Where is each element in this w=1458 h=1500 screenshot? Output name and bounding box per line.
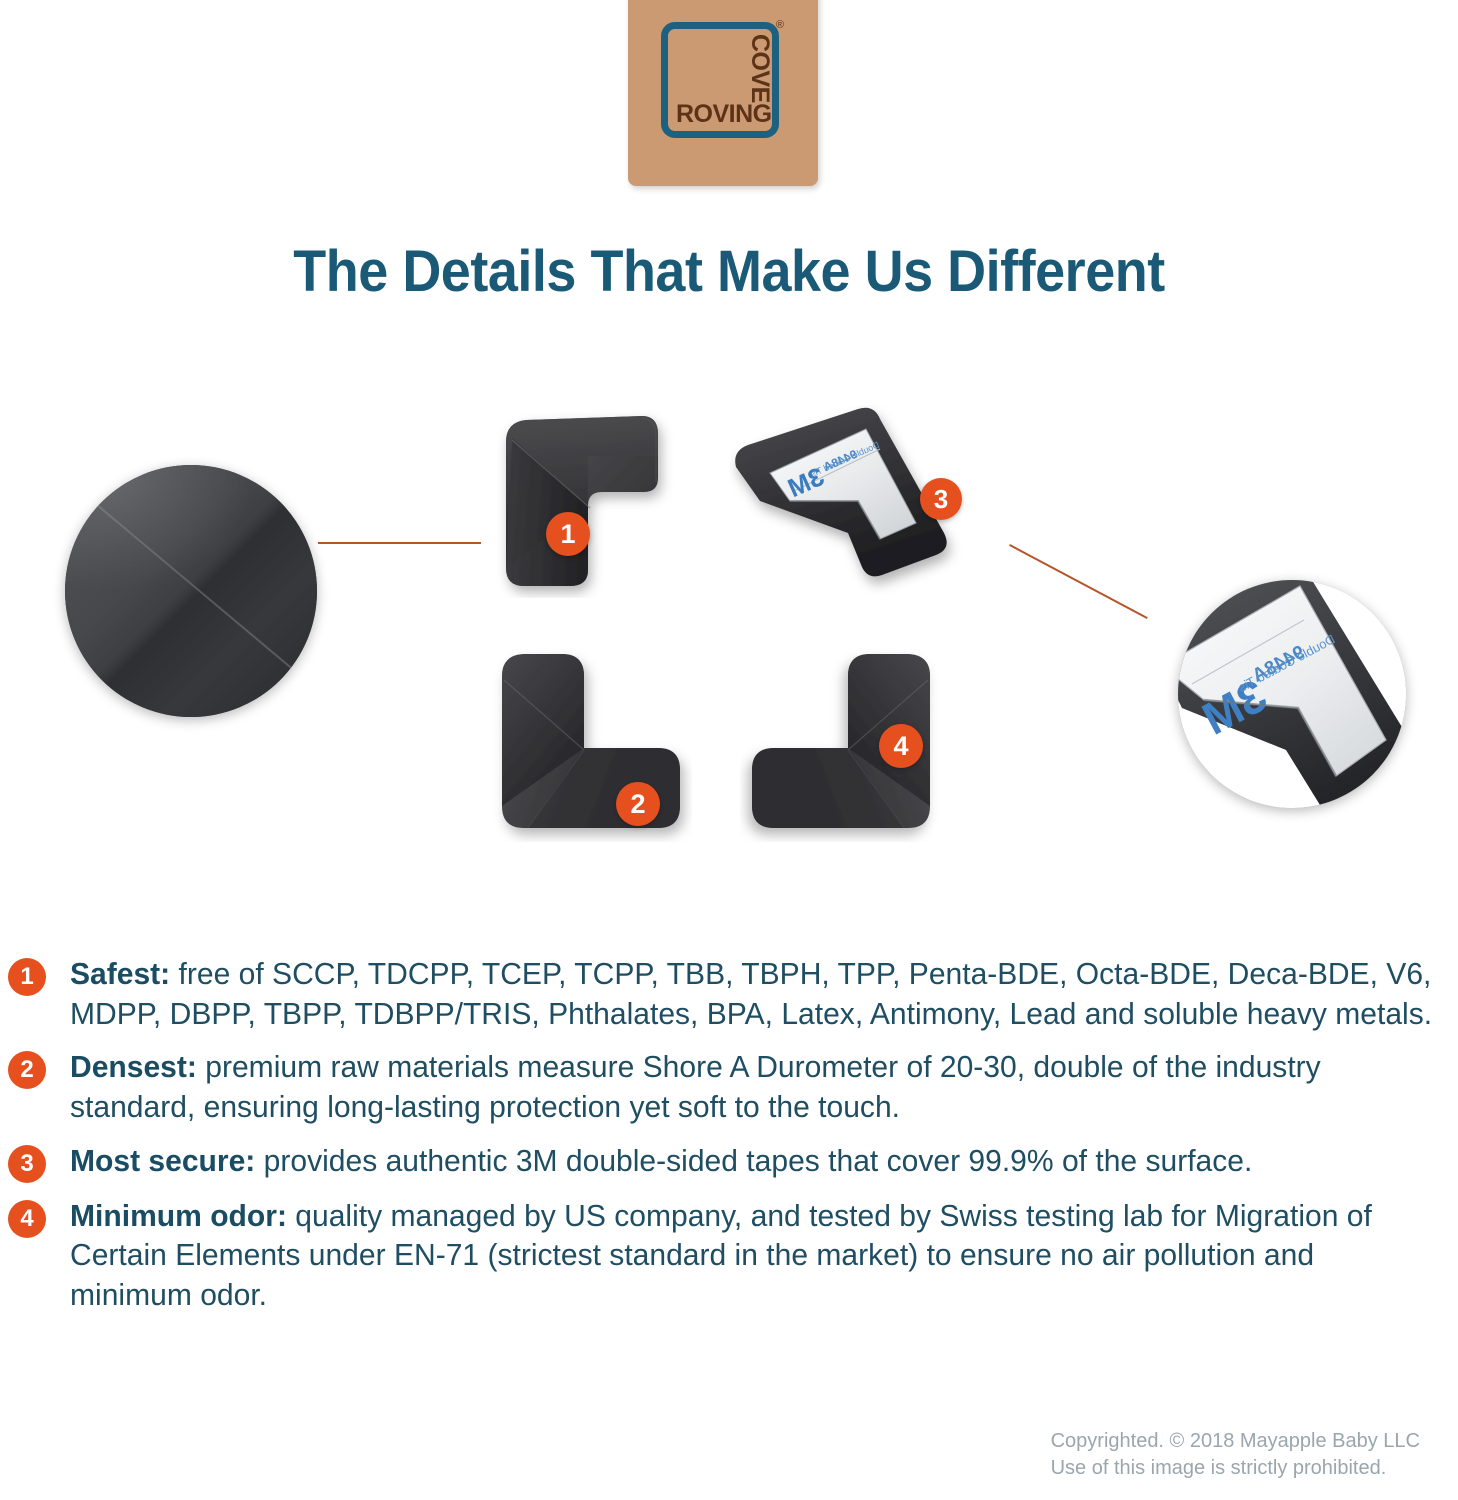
feature-label-3: Most secure:: [70, 1144, 255, 1178]
feature-body-3: provides authentic 3M double-sided tapes…: [255, 1144, 1252, 1178]
feature-badge-4: 4: [8, 1200, 46, 1238]
corner-guard-left-svg: [492, 642, 692, 842]
callout-badge-2[interactable]: 2: [616, 782, 660, 826]
product-illustration-area: 1: [0, 380, 1458, 940]
logo-text-cove: COVE: [747, 34, 772, 103]
feature-label-1: Safest:: [70, 957, 170, 991]
callout-badge-1[interactable]: 1: [546, 512, 590, 556]
feature-item-minimum-odor: 4 Minimum odor: quality managed by US co…: [0, 1197, 1458, 1316]
connector-line-right: [1009, 544, 1148, 619]
registered-trademark-icon: ®: [776, 19, 784, 31]
copyright-notice: Copyrighted. © 2018 Mayapple Baby LLC Us…: [1051, 1428, 1420, 1482]
brand-logo-panel: ROVING COVE ®: [628, 0, 818, 186]
adhesive-closeup-content: 3M 9448A Double Coated Tis: [1178, 580, 1406, 808]
callout-badge-3[interactable]: 3: [920, 478, 962, 520]
feature-label-2: Densest:: [70, 1050, 197, 1084]
feature-badge-1: 1: [8, 958, 46, 996]
feature-item-most-secure: 3 Most secure: provides authentic 3M dou…: [0, 1142, 1458, 1183]
callout-badge-4[interactable]: 4: [879, 724, 923, 768]
corner-guard-adhesive: 3M 9448A Double Coated Tis 3: [730, 405, 980, 595]
copyright-line-2: Use of this image is strictly prohibited…: [1051, 1455, 1420, 1482]
adhesive-closeup-magnifier: 3M 9448A Double Coated Tis: [1178, 580, 1406, 808]
logo-frame: ROVING COVE ®: [661, 22, 779, 138]
logo-text-roving: ROVING: [676, 102, 772, 127]
corner-guard-front-svg: [492, 408, 677, 598]
feature-text-4: Minimum odor: quality managed by US comp…: [70, 1197, 1437, 1316]
feature-item-densest: 2 Densest: premium raw materials measure…: [0, 1048, 1458, 1127]
feature-label-4: Minimum odor:: [70, 1199, 287, 1233]
feature-body-1: free of SCCP, TDCPP, TCEP, TCPP, TBB, TB…: [70, 957, 1432, 1031]
feature-badge-3: 3: [8, 1145, 46, 1183]
corner-guard-front: 1: [492, 408, 677, 598]
adhesive-closeup-svg: 3M 9448A Double Coated Tis: [1178, 580, 1406, 808]
page-title: The Details That Make Us Different: [51, 238, 1407, 305]
corner-guard-left: 2: [492, 642, 692, 842]
feature-item-safest: 1 Safest: free of SCCP, TDCPP, TCEP, TCP…: [0, 955, 1458, 1034]
feature-text-2: Densest: premium raw materials measure S…: [70, 1048, 1437, 1127]
feature-text-3: Most secure: provides authentic 3M doubl…: [70, 1142, 1252, 1182]
feature-list: 1 Safest: free of SCCP, TDCPP, TCEP, TCP…: [0, 955, 1458, 1329]
connector-line-left: [318, 542, 481, 544]
feature-body-2: premium raw materials measure Shore A Du…: [70, 1050, 1321, 1124]
copyright-line-1: Copyrighted. © 2018 Mayapple Baby LLC: [1051, 1428, 1420, 1455]
feature-text-1: Safest: free of SCCP, TDCPP, TCEP, TCPP,…: [70, 955, 1437, 1034]
feature-badge-2: 2: [8, 1051, 46, 1089]
foam-highlight: [65, 465, 254, 591]
foam-closeup-magnifier: [65, 465, 317, 717]
